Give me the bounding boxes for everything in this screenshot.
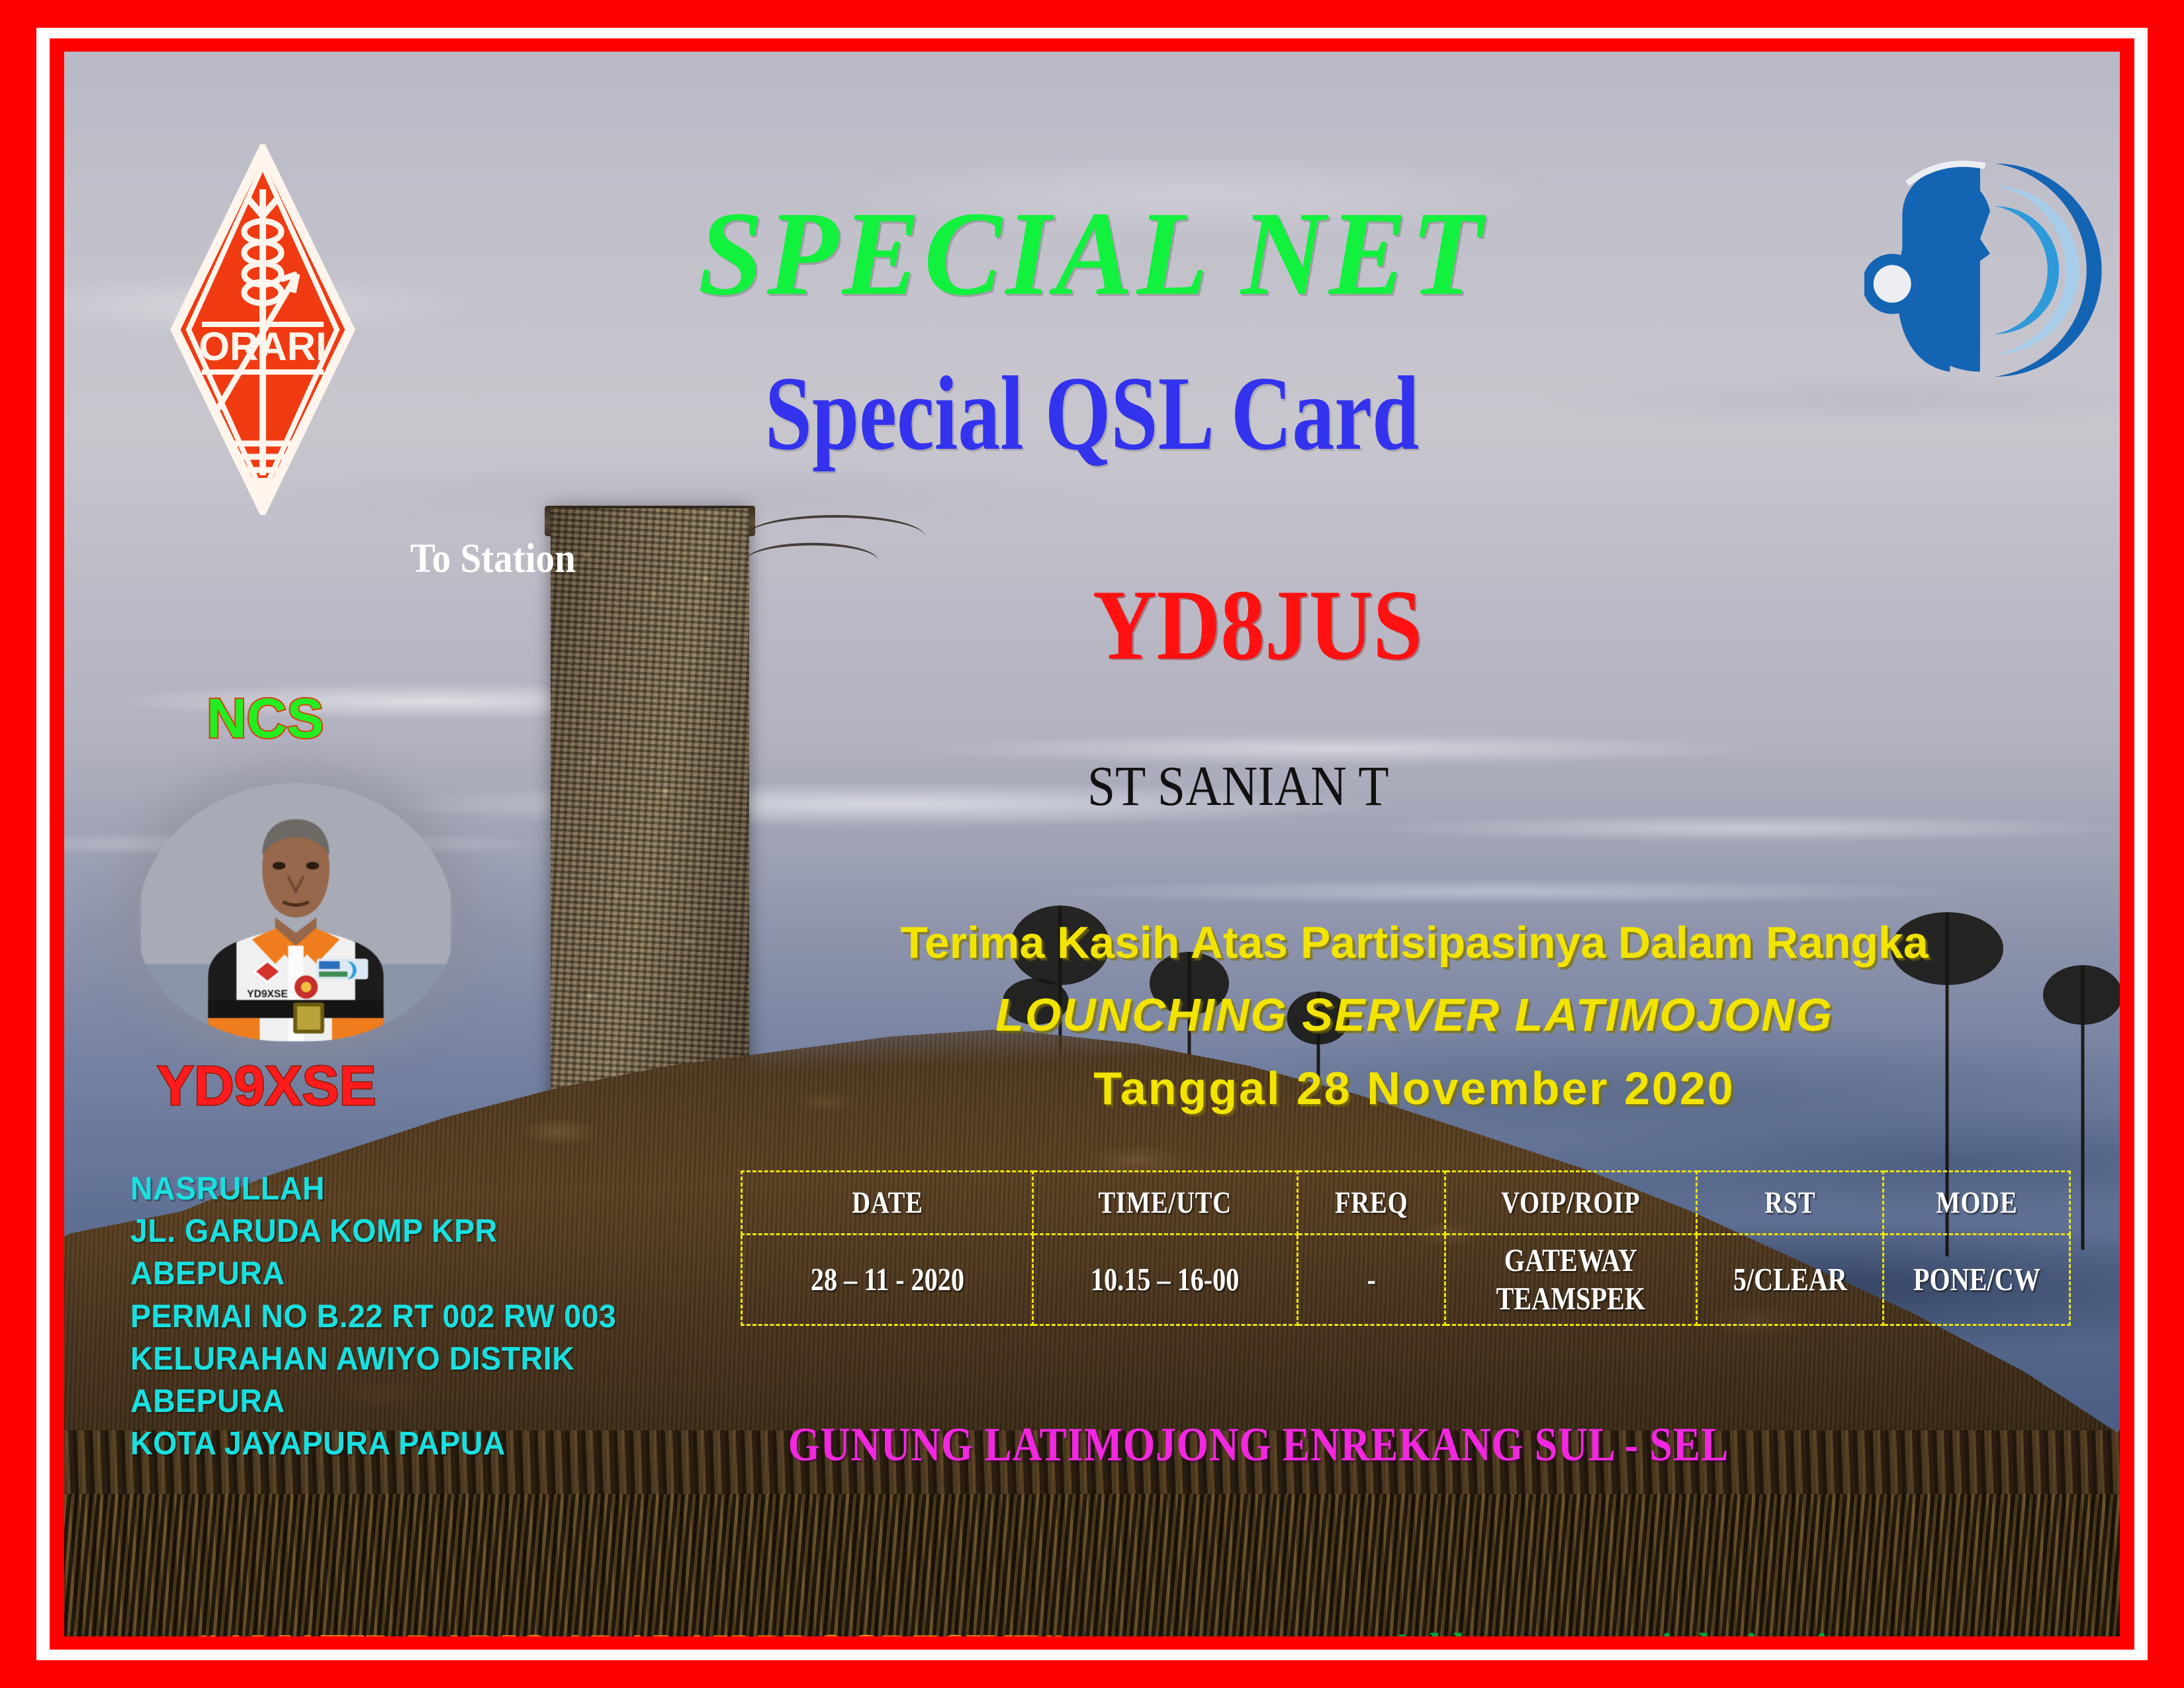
table-row: 28 – 11 - 2020 10.15 – 16-00 - GATEWAY T… [742,1235,2070,1325]
column-header-mode: MODE [1900,1172,2053,1235]
table-header-row: DATE TIME/UTC FREQ VOIP/ROIP RST MODE [742,1172,2070,1235]
card-white-frame: ORARI [36,28,2148,1660]
address-line: ABEPURA [130,1380,616,1423]
address-line: JL. GARUDA KOMP KPR [130,1210,616,1252]
qsl-card: ORARI [0,0,2184,1688]
column-header-time: TIME/UTC [1056,1172,1273,1235]
address-line: NASRULLAH [130,1168,616,1210]
address-line: PERMAI NO B.22 RT 002 RW 003 [130,1295,616,1338]
card-photo-background: ORARI [64,52,2120,1636]
event-name: LOUNCHING SERVER LATIMOJONG [726,988,2103,1041]
footer-website: Address : amatir.latimojong.com [1387,1626,1979,1636]
cell-rst: 5/CLEAR [1713,1235,1866,1325]
page-title: SPECIAL NET [95,194,2089,314]
ncs-callsign: YD9XSE [157,1058,377,1113]
svg-text:YD9XSE: YD9XSE [247,989,288,1000]
cell-time: 10.15 – 16-00 [1056,1235,1273,1325]
cell-date: 28 – 11 - 2020 [768,1235,1007,1325]
column-header-voip-roip: VOIP/ROIP [1468,1172,1674,1235]
cell-voip-roip: GATEWAY TEAMSPEK [1468,1235,1674,1325]
callsign-value: YD8JUS [1093,575,1422,675]
event-date: Tanggal 28 November 2020 [726,1062,2103,1115]
address-line: KOTA JAYAPURA PAPUA [130,1423,616,1465]
to-station-label: To Station [410,538,576,579]
footer-motto: "AMATIR RADIO ADALAH PROGRESIVE" [197,1627,1066,1636]
column-header-date: DATE [768,1172,1007,1235]
page-subtitle: Special QSL Card [270,360,1915,466]
antenna-wire [746,543,878,579]
location-label: GUNUNG LATIMOJONG ENREKANG SUL - SEL [788,1421,1729,1468]
address-block: NASRULLAH JL. GARUDA KOMP KPR ABEPURA PE… [130,1168,616,1465]
station-name-value: ST SANIAN T [1087,757,1389,814]
cell-voip-roip-line2: TEAMSPEK [1469,1280,1673,1318]
cell-freq: - [1311,1235,1432,1325]
ncs-label: NCS [206,690,324,746]
qso-details-table: DATE TIME/UTC FREQ VOIP/ROIP RST MODE 28… [741,1170,2071,1326]
address-line: KELURAHAN AWIYO DISTRIK [130,1338,616,1380]
card-inner-red-frame: ORARI [50,38,2134,1650]
column-header-rst: RST [1713,1172,1866,1235]
dry-grass-detail [64,1494,2120,1636]
thanks-line-1: Terima Kasih Atas Partisipasinya Dalam R… [726,917,2103,968]
cell-mode: PONE/CW [1900,1235,2053,1325]
column-header-freq: FREQ [1311,1172,1432,1235]
address-line: ABEPURA [130,1252,616,1295]
cell-voip-roip-line1: GATEWAY [1469,1241,1673,1280]
